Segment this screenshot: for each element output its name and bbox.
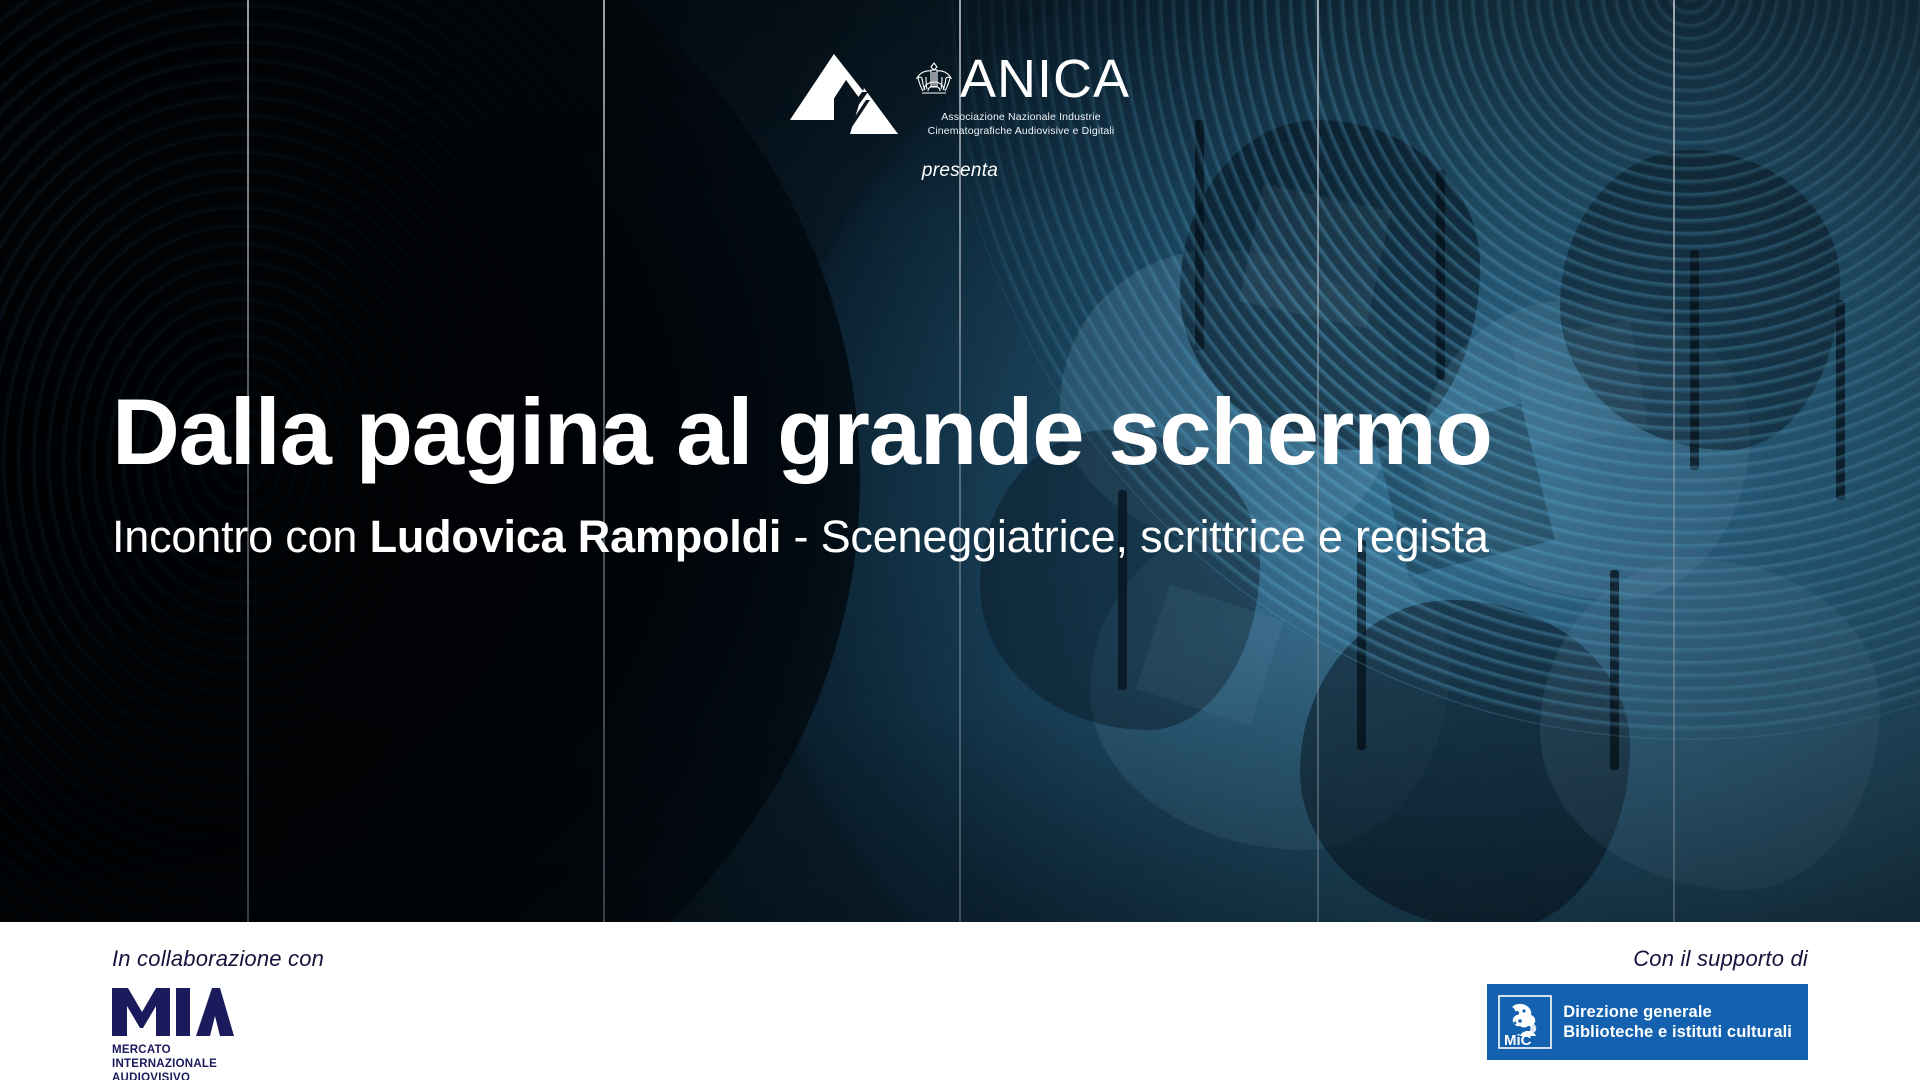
mic-logo-text: Direzione generale Biblioteche e istitut…	[1563, 1002, 1792, 1042]
subtitle-prefix: Incontro con	[112, 511, 370, 562]
anica-logo-block: ANICA Associazione Nazionale Industrie C…	[0, 52, 1920, 182]
anica-eagle-icon	[912, 57, 956, 101]
mic-logo: MiC Direzione generale Biblioteche e ist…	[1487, 984, 1808, 1060]
mia-logo-icon	[112, 984, 234, 1036]
anica-wordmark-group: ANICA Associazione Nazionale Industrie C…	[912, 52, 1130, 138]
support-label: Con il supporto di	[1487, 946, 1808, 972]
collaboration-block: In collaborazione con MERCATO INTERNAZIO…	[112, 946, 324, 1080]
anica-logo-row: ANICA Associazione Nazionale Industrie C…	[790, 52, 1130, 138]
presents-label: presenta	[922, 160, 998, 182]
event-title: Dalla pagina al grande schermo	[112, 384, 1832, 481]
mia-logo: MERCATO INTERNAZIONALE AUDIOVISIVO	[112, 984, 324, 1080]
event-subtitle: Incontro con Ludovica Rampoldi - Scenegg…	[112, 511, 1832, 563]
subtitle-suffix: - Sceneggiatrice, scrittrice e regista	[781, 511, 1488, 562]
support-block: Con il supporto di MiC	[1487, 946, 1808, 1060]
subtitle-guest-name: Ludovica Rampoldi	[370, 511, 782, 562]
mia-logo-subtitle: MERCATO INTERNAZIONALE AUDIOVISIVO	[112, 1043, 324, 1080]
anica-wordmark: ANICA	[960, 52, 1130, 106]
anica-tagline: Associazione Nazionale Industrie Cinemat…	[912, 111, 1130, 138]
event-poster: ANICA Associazione Nazionale Industrie C…	[0, 0, 1920, 1080]
collaboration-label: In collaborazione con	[112, 946, 324, 972]
mic-emblem-icon: MiC	[1498, 995, 1552, 1049]
svg-text:MiC: MiC	[1504, 1032, 1532, 1049]
anica-triangle-icon	[790, 52, 902, 138]
hero-artwork: ANICA Associazione Nazionale Industrie C…	[0, 0, 1920, 922]
footer-bar: In collaborazione con MERCATO INTERNAZIO…	[0, 922, 1920, 1080]
title-block: Dalla pagina al grande schermo Incontro …	[112, 384, 1832, 563]
